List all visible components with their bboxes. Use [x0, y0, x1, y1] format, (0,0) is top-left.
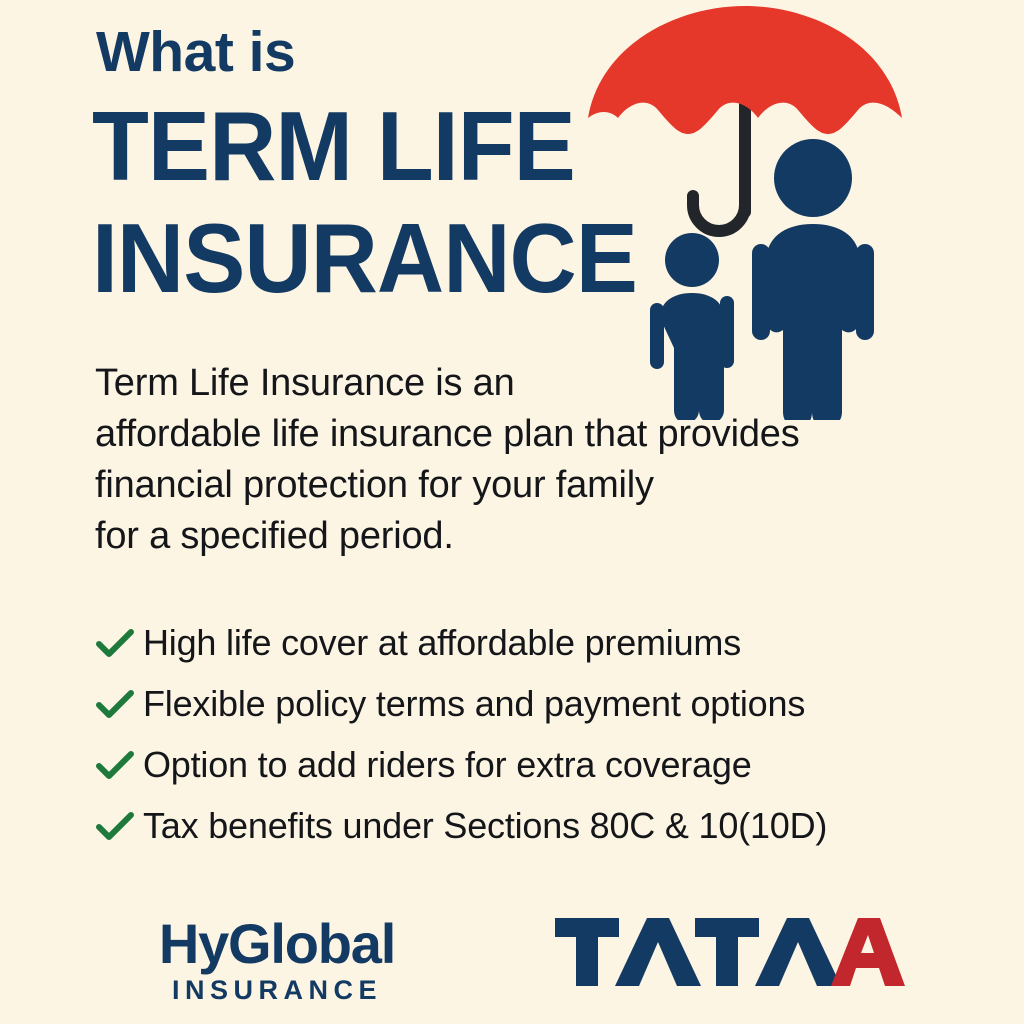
- list-item: Flexible policy terms and payment option…: [95, 673, 975, 734]
- description-line: financial protection for your family: [95, 460, 955, 511]
- umbrella-family-illustration: [570, 0, 1024, 420]
- description-paragraph: Term Life Insurance is an affordable lif…: [95, 358, 955, 562]
- description-line: Term Life Insurance is an: [95, 358, 955, 409]
- description-line: for a specified period.: [95, 511, 955, 562]
- title-line-1: TERM LIFE: [92, 100, 575, 192]
- hyglobal-wordmark: HyGlobal: [112, 915, 442, 973]
- hyglobal-subtitle: INSURANCE: [112, 975, 442, 1005]
- check-icon: [95, 612, 143, 673]
- list-item: High life cover at affordable premiums: [95, 612, 975, 673]
- list-item: Option to add riders for extra coverage: [95, 734, 975, 795]
- child-head: [665, 233, 719, 287]
- list-item: Tax benefits under Sections 80C & 10(10D…: [95, 795, 975, 856]
- tata-wordmark: [555, 918, 841, 986]
- adult-head: [774, 139, 852, 217]
- benefit-text: Flexible policy terms and payment option…: [143, 684, 805, 724]
- check-icon: [95, 673, 143, 734]
- aia-wordmark: [831, 918, 905, 986]
- benefit-text: Option to add riders for extra coverage: [143, 745, 752, 785]
- description-line: affordable life insurance plan that prov…: [95, 409, 955, 460]
- eyebrow-heading: What is: [96, 22, 295, 82]
- benefits-list: High life cover at affordable premiums F…: [95, 612, 975, 856]
- title-line-2: INSURANCE: [92, 212, 637, 304]
- infographic-poster: What is TERM LIFE INSURANCE Term Life In…: [0, 0, 1024, 1024]
- benefit-text: Tax benefits under Sections 80C & 10(10D…: [143, 806, 827, 846]
- adult-right-arm: [856, 244, 874, 340]
- tata-aia-logo: [555, 918, 905, 990]
- benefit-text: High life cover at affordable premiums: [143, 623, 741, 663]
- hyglobal-logo: HyGlobal INSURANCE: [112, 915, 442, 1005]
- check-icon: [95, 795, 143, 856]
- check-icon: [95, 734, 143, 795]
- umbrella-handle-hook: [693, 186, 745, 231]
- adult-left-arm: [752, 244, 770, 340]
